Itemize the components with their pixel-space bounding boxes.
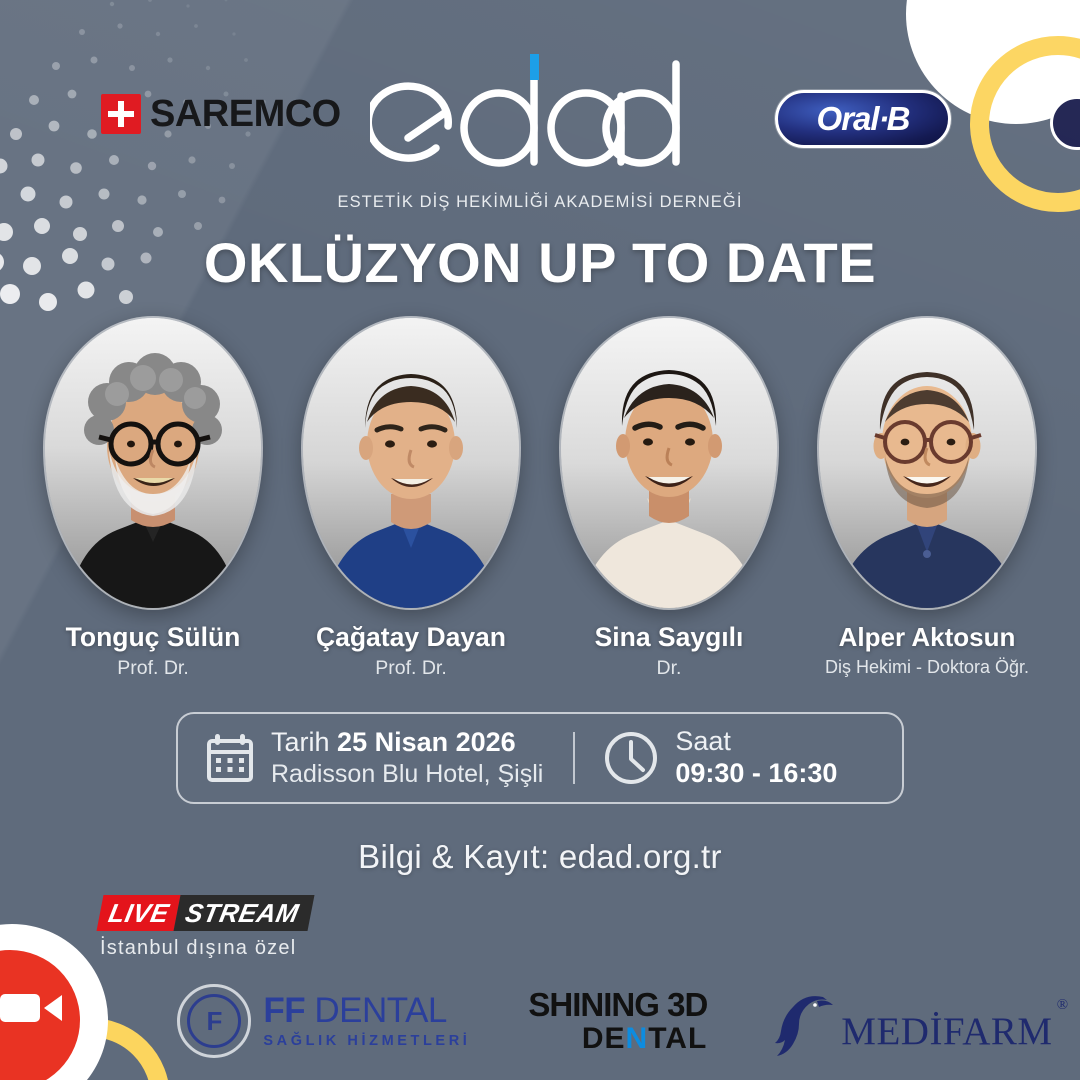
- shining3d-line1: SHINING 3D: [528, 988, 707, 1021]
- edad-subtitle: ESTETİK DİŞ HEKİMLİĞİ AKADEMİSİ DERNEĞİ: [0, 193, 1080, 212]
- footer-sponsors: F FF DENTAL SAĞLIK HİZMETLERİ SHINING 3D…: [0, 978, 1080, 1064]
- time-value: 09:30 - 16:30: [675, 757, 837, 789]
- edad-wordmark: [370, 52, 710, 184]
- speaker-portrait: [303, 318, 519, 608]
- speaker-name: Sina Saygılı: [595, 622, 744, 653]
- ff-dental-text: FF DENTAL SAĞLIK HİZMETLERİ: [263, 993, 470, 1049]
- oralb-text-b: B: [887, 100, 910, 137]
- speaker-title: Prof. Dr.: [375, 657, 447, 680]
- speaker-portrait: [561, 318, 777, 608]
- calendar-icon: [206, 733, 254, 783]
- ff-monogram-inner: F: [187, 994, 241, 1048]
- ff-dental-name-rest: DENTAL: [305, 991, 447, 1030]
- speaker-title: Prof. Dr.: [117, 657, 189, 680]
- speaker-card: Sina Saygılı Dr.: [561, 318, 777, 688]
- speaker-title: Diş Hekimi - Doktora Öğr.: [825, 657, 1029, 678]
- speaker-portrait: [45, 318, 261, 608]
- event-time-block: Saat 09:30 - 16:30: [603, 726, 837, 789]
- speaker-name: Tonguç Sülün: [66, 622, 241, 653]
- registered-mark-icon: ®: [1057, 998, 1069, 1013]
- registration-info[interactable]: Bilgi & Kayıt: edad.org.tr: [0, 838, 1080, 876]
- date-value: 25 Nisan 2026: [337, 727, 516, 757]
- speaker-portrait: [819, 318, 1035, 608]
- speaker-title: Dr.: [657, 657, 682, 680]
- speaker-card: Alper Aktosun Diş Hekimi - Doktora Öğr.: [819, 318, 1035, 688]
- medifarm-wordmark: MEDİFARM®: [841, 1012, 1052, 1057]
- livestream-badge: LIVE STREAM: [97, 895, 315, 931]
- livestream-badge-stream: STREAM: [173, 895, 314, 931]
- sponsor-oralb-logo: Oral·B: [775, 90, 951, 148]
- ff-dental-tagline: SAĞLIK HİZMETLERİ: [263, 1034, 470, 1049]
- ff-dental-name: FF DENTAL: [263, 993, 470, 1028]
- speaker-name: Alper Aktosun: [839, 622, 1016, 653]
- dolphin-icon: [765, 985, 837, 1057]
- poster-canvas: SAREMCO: [0, 0, 1080, 1080]
- sponsor-ff-dental: F FF DENTAL SAĞLIK HİZMETLERİ: [177, 984, 470, 1058]
- sponsor-shining-3d: SHINING 3D DENTAL: [528, 988, 707, 1054]
- page-title: OKLÜZYON UP TO DATE: [0, 230, 1080, 295]
- livestream-note: İstanbul dışına özel: [100, 937, 311, 960]
- speaker-name: Çağatay Dayan: [316, 622, 506, 653]
- oralb-text-oral: Oral: [817, 100, 879, 137]
- event-date-line: Tarih 25 Nisan 2026: [271, 727, 543, 759]
- event-date-block: Tarih 25 Nisan 2026 Radisson Blu Hotel, …: [178, 727, 543, 789]
- header-sponsors: SAREMCO: [0, 0, 1080, 215]
- shining3d-de: DE: [582, 1022, 626, 1055]
- sponsor-medifarm: MEDİFARM®: [765, 985, 1052, 1057]
- speakers-row: Tonguç Sülün Prof. Dr.: [0, 318, 1080, 688]
- livestream-badge-live: LIVE: [97, 895, 181, 931]
- shining3d-line2: DENTAL: [582, 1024, 707, 1054]
- oralb-separator: ·: [879, 100, 887, 137]
- livestream-badge-group: LIVE STREAM İstanbul dışına özel: [100, 895, 311, 960]
- speaker-card: Tonguç Sülün Prof. Dr.: [45, 318, 261, 688]
- sponsor-oralb-label: Oral·B: [817, 100, 910, 138]
- shining3d-tal: TAL: [648, 1022, 707, 1055]
- time-label: Saat: [675, 726, 837, 757]
- info-divider: [573, 732, 575, 784]
- medifarm-name: MEDİFARM: [841, 1010, 1052, 1053]
- speaker-card: Çağatay Dayan Prof. Dr.: [303, 318, 519, 688]
- clock-icon: [603, 730, 659, 786]
- ff-dental-name-bold: FF: [263, 991, 305, 1030]
- shining3d-n: N: [626, 1022, 649, 1055]
- event-venue: Radisson Blu Hotel, Şişli: [271, 759, 543, 789]
- ff-monogram-icon: F: [177, 984, 251, 1058]
- date-label: Tarih: [271, 727, 330, 757]
- event-info-box: Tarih 25 Nisan 2026 Radisson Blu Hotel, …: [176, 712, 904, 804]
